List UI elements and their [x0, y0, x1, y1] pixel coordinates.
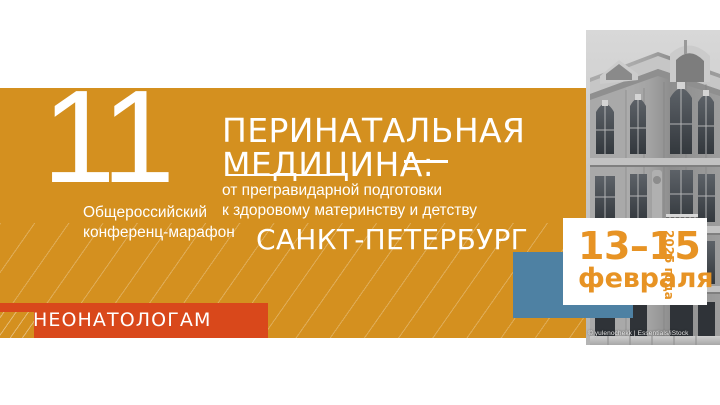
- headline: ПЕРИНАТАЛЬНАЯ МЕДИЦИНА:: [222, 114, 525, 183]
- date-year: 2025 года: [663, 230, 675, 300]
- city-name: САНКТ-ПЕТЕРБУРГ: [256, 226, 528, 254]
- audience-badge-label: НЕОНАТОЛОГАМ: [33, 311, 212, 330]
- conference-banner: 11 Общероссийский конференц-марафон ПЕРИ…: [0, 0, 720, 405]
- date-range: 13–15: [578, 227, 700, 265]
- audience-badge: НЕОНАТОЛОГАМ: [0, 303, 268, 338]
- issue-number: 11: [42, 74, 171, 199]
- photo-credit: © yulenochekk | Essentials/iStock: [588, 331, 720, 338]
- tagline: от прегравидарной подготовки к здоровому…: [222, 181, 477, 221]
- tagline-line-1: от прегравидарной подготовки: [222, 181, 477, 201]
- headline-underline-rule: [226, 174, 330, 176]
- date-card: 13–15 февраля 2025 года: [563, 218, 707, 305]
- tagline-line-2: к здоровому материнству и детству: [222, 201, 477, 221]
- headline-line-1: ПЕРИНАТАЛЬНАЯ: [222, 114, 525, 148]
- event-kind-line-2: конференц-марафон: [83, 223, 235, 243]
- corner-hatch-accent: [0, 312, 34, 338]
- headline-strike-rule: [404, 160, 448, 163]
- date-month: февраля: [578, 265, 713, 292]
- event-kind-line-1: Общероссийский: [83, 203, 235, 223]
- headline-line-2: МЕДИЦИНА:: [222, 148, 434, 184]
- event-kind: Общероссийский конференц-марафон: [83, 203, 235, 243]
